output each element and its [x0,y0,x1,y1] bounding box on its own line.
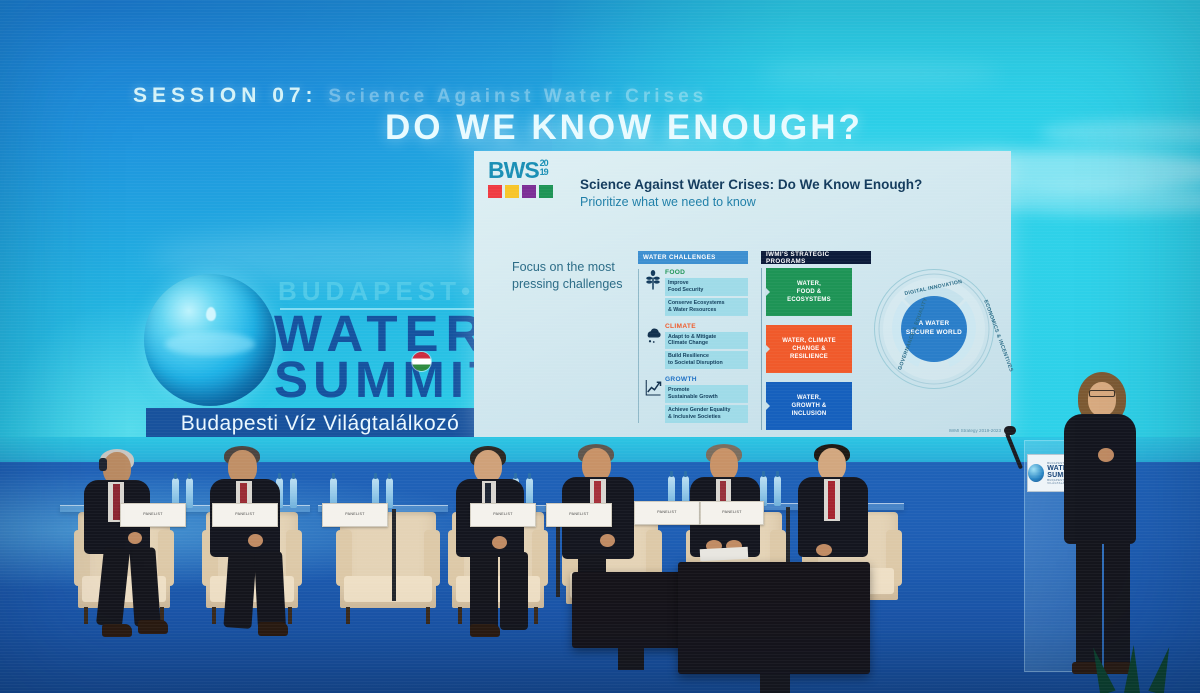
challenge-bullet: PromoteSustainable Growth [665,385,748,403]
monitor-stand [618,648,644,670]
program-box: WATER, CLIMATECHANGE &RESILIENCE [766,325,852,373]
water-globe-icon [144,274,276,406]
name-placard: PANELIST [322,503,388,527]
name-placard: PANELIST [546,503,612,527]
bws-color-swatches [488,185,562,198]
challenges-header: WATER CHALLENGES [638,251,748,264]
notepad [700,547,749,561]
slide-title: Science Against Water Crises: Do We Know… [580,177,922,192]
challenge-title: GROWTH [665,376,748,383]
challenge-bullet: Achieve Gender Equality& Inclusive Socie… [665,405,748,423]
table-leg [392,509,396,601]
slide-callout: Focus on the most pressing challenges [512,259,624,293]
wheat-icon [644,270,662,290]
bws-wordmark: BWS2019 [488,159,562,182]
cloud-graphic [760,60,1000,88]
confidence-monitor [678,562,870,674]
strategic-programs-column: IWMI'S STRATEGIC PROGRAMS WATER,FOOD &EC… [761,251,871,430]
confidence-monitor [572,572,690,648]
name-placard: PANELIST [634,501,700,525]
challenge-bullet: Conserve Ecosystems& Water Resources [665,298,748,316]
slide-footnote: IWMI Strategy 2019-2023 [949,428,1001,433]
logo-word-summit: SUMMIT [274,356,505,404]
session-topic: Science Against Water Crises [328,86,707,107]
water-bottle [774,476,781,506]
challenge-group: CLIMATEAdapt to & MitigateClimate Change… [643,323,748,370]
bws-swatch [488,185,502,198]
monitor-stand [760,674,790,693]
water-secure-world-wheel: A WATERSECURE WORLD DIGITAL INNOVATION E… [874,269,994,389]
challenge-group: FOODImproveFood SecurityConserve Ecosyst… [643,269,748,316]
logo-hungarian-bar: Budapesti Víz Világtalálkozó [146,408,494,440]
conference-stage-photo: SESSION 07: Science Against Water Crises… [0,0,1200,693]
program-box: WATER,GROWTH &INCLUSION [766,382,852,430]
projected-presentation-slide: BWS2019 Science Against Water Crises: Do… [474,151,1011,439]
session-headline: DO WE KNOW ENOUGH? [385,108,863,148]
bws-brand-mark: BWS2019 [488,159,562,198]
podium-globe-icon [1028,464,1044,482]
slide-subtitle: Prioritize what we need to know [580,195,756,209]
headset-icon [99,458,107,471]
water-bottle [186,478,193,508]
logo-hungarian-text: Budapesti Víz Világtalálkozó [181,412,460,436]
growth-chart-icon [644,377,662,397]
programs-header: IWMI'S STRATEGIC PROGRAMS [761,251,871,264]
challenges-list: FOODImproveFood SecurityConserve Ecosyst… [638,269,748,423]
hungary-flag-icon [412,352,431,371]
challenge-bullet: Adapt to & MitigateClimate Change [665,332,748,350]
microphone-icon [1004,426,1016,435]
challenge-title: CLIMATE [665,323,748,330]
name-placard: PANELIST [120,503,186,527]
bws-swatch [539,185,553,198]
challenge-title: FOOD [665,269,748,276]
name-placard: PANELIST [212,503,278,527]
name-placard: PANELIST [700,501,764,525]
session-heading: SESSION 07: Science Against Water Crises [133,84,707,108]
session-number: SESSION 07: [133,84,318,107]
bws-swatch [522,185,536,198]
challenge-bullet: ImproveFood Security [665,278,748,296]
budapest-water-summit-logo: BUDAPEST•2019 WATER SUMMIT Budapesti Víz… [144,268,496,448]
challenge-bullet: Build Resilienceto Societal Disruption [665,351,748,369]
programs-list: WATER,FOOD &ECOSYSTEMSWATER, CLIMATECHAN… [761,268,871,430]
decorative-plant [1080,633,1200,693]
water-bottle [290,478,297,508]
bws-swatch [505,185,519,198]
eyeglasses-icon [1089,390,1115,397]
water-challenges-column: WATER CHALLENGES FOODImproveFood Securit… [638,251,748,430]
challenge-group: GROWTHPromoteSustainable GrowthAchieve G… [643,376,748,423]
name-placard: PANELIST [470,503,536,527]
program-box: WATER,FOOD &ECOSYSTEMS [766,268,852,316]
rain-cloud-icon [644,324,662,344]
